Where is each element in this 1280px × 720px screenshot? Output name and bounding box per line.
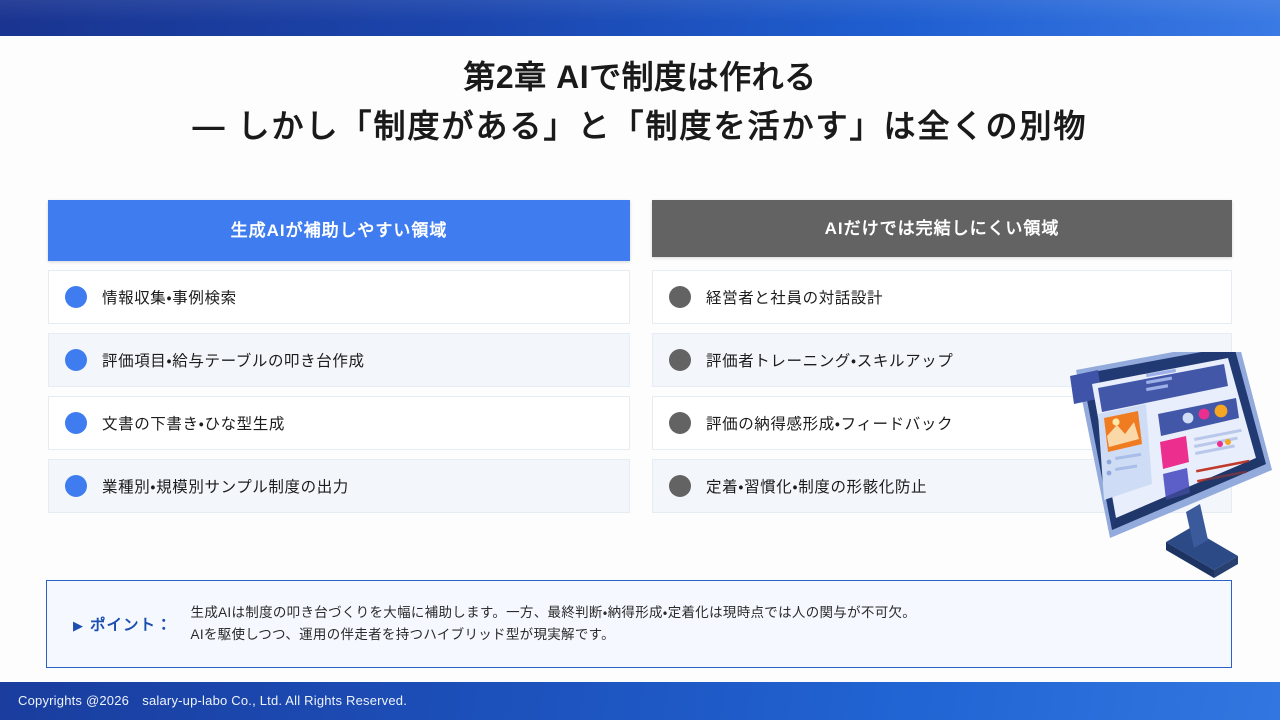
column-ai-assisted: 生成AIが補助しやすい領域 情報収集・事例検索 評価項目・給与テーブルの叩き台作… [48, 200, 630, 513]
list-item[interactable]: 評価者トレーニング・スキルアップ [652, 333, 1232, 387]
list-item-label: 文書の下書き・ひな型生成 [102, 412, 285, 434]
list-item[interactable]: 評価の納得感形成・フィードバック [652, 396, 1232, 450]
list-item[interactable]: 文書の下書き・ひな型生成 [48, 396, 630, 450]
point-body-line-2: AIを駆使しつつ、運用の伴走者を持つハイブリッド型が現実解です。 [191, 624, 917, 646]
bullet-dot-icon [669, 286, 691, 308]
bullet-dot-icon [669, 349, 691, 371]
list-item[interactable]: 業種別・規模別サンプル制度の出力 [48, 459, 630, 513]
bullet-dot-icon [65, 412, 87, 434]
list-item-label: 評価の納得感形成・フィードバック [706, 412, 953, 434]
column-human-required: AIだけでは完結しにくい領域 経営者と社員の対話設計 評価者トレーニング・スキル… [652, 200, 1232, 513]
list-item-label: 経営者と社員の対話設計 [706, 286, 883, 308]
list-item[interactable]: 定着・習慣化・制度の形骸化防止 [652, 459, 1232, 513]
list-item[interactable]: 情報収集・事例検索 [48, 270, 630, 324]
footer-copyright: Copyrights @2026 salary-up-labo Co., Ltd… [18, 682, 407, 720]
point-callout-box: ▶ポイント： 生成AIは制度の叩き台づくりを大幅に補助します。一方、最終判断・納… [46, 580, 1232, 668]
bullet-dot-icon [669, 475, 691, 497]
point-label-text: ポイント： [90, 617, 173, 634]
bullet-dot-icon [669, 412, 691, 434]
bullet-dot-icon [65, 475, 87, 497]
top-bar-sheen [0, 0, 1280, 36]
footer-bar: Copyrights @2026 salary-up-labo Co., Ltd… [0, 682, 1280, 720]
triangle-right-icon: ▶ [73, 618, 84, 633]
list-item-label: 情報収集・事例検索 [102, 286, 237, 308]
list-item-label: 評価者トレーニング・スキルアップ [706, 349, 953, 371]
title-line-1: 第2章 AIで制度は作れる [0, 55, 1280, 99]
column-header-human-required: AIだけでは完結しにくい領域 [652, 200, 1232, 257]
list-item[interactable]: 評価項目・給与テーブルの叩き台作成 [48, 333, 630, 387]
list-item-label: 評価項目・給与テーブルの叩き台作成 [102, 349, 365, 371]
point-label: ▶ポイント： [47, 613, 191, 635]
top-accent-bar [0, 0, 1280, 36]
list-ai-assisted: 情報収集・事例検索 評価項目・給与テーブルの叩き台作成 文書の下書き・ひな型生成… [48, 270, 630, 513]
page-title: 第2章 AIで制度は作れる — しかし「制度がある」と「制度を活かす」は全くの別… [0, 55, 1280, 149]
point-body-line-1: 生成AIは制度の叩き台づくりを大幅に補助します。一方、最終判断・納得形成・定着化… [191, 602, 917, 624]
slide-root: 第2章 AIで制度は作れる — しかし「制度がある」と「制度を活かす」は全くの別… [0, 0, 1280, 720]
list-item[interactable]: 経営者と社員の対話設計 [652, 270, 1232, 324]
bullet-dot-icon [65, 349, 87, 371]
title-line-2: — しかし「制度がある」と「制度を活かす」は全くの別物 [0, 103, 1280, 149]
bullet-dot-icon [65, 286, 87, 308]
point-body: 生成AIは制度の叩き台づくりを大幅に補助します。一方、最終判断・納得形成・定着化… [191, 602, 917, 646]
list-item-label: 業種別・規模別サンプル制度の出力 [102, 475, 349, 497]
list-item-label: 定着・習慣化・制度の形骸化防止 [706, 475, 927, 497]
list-human-required: 経営者と社員の対話設計 評価者トレーニング・スキルアップ 評価の納得感形成・フィ… [652, 270, 1232, 513]
column-header-ai-assisted: 生成AIが補助しやすい領域 [48, 200, 630, 261]
